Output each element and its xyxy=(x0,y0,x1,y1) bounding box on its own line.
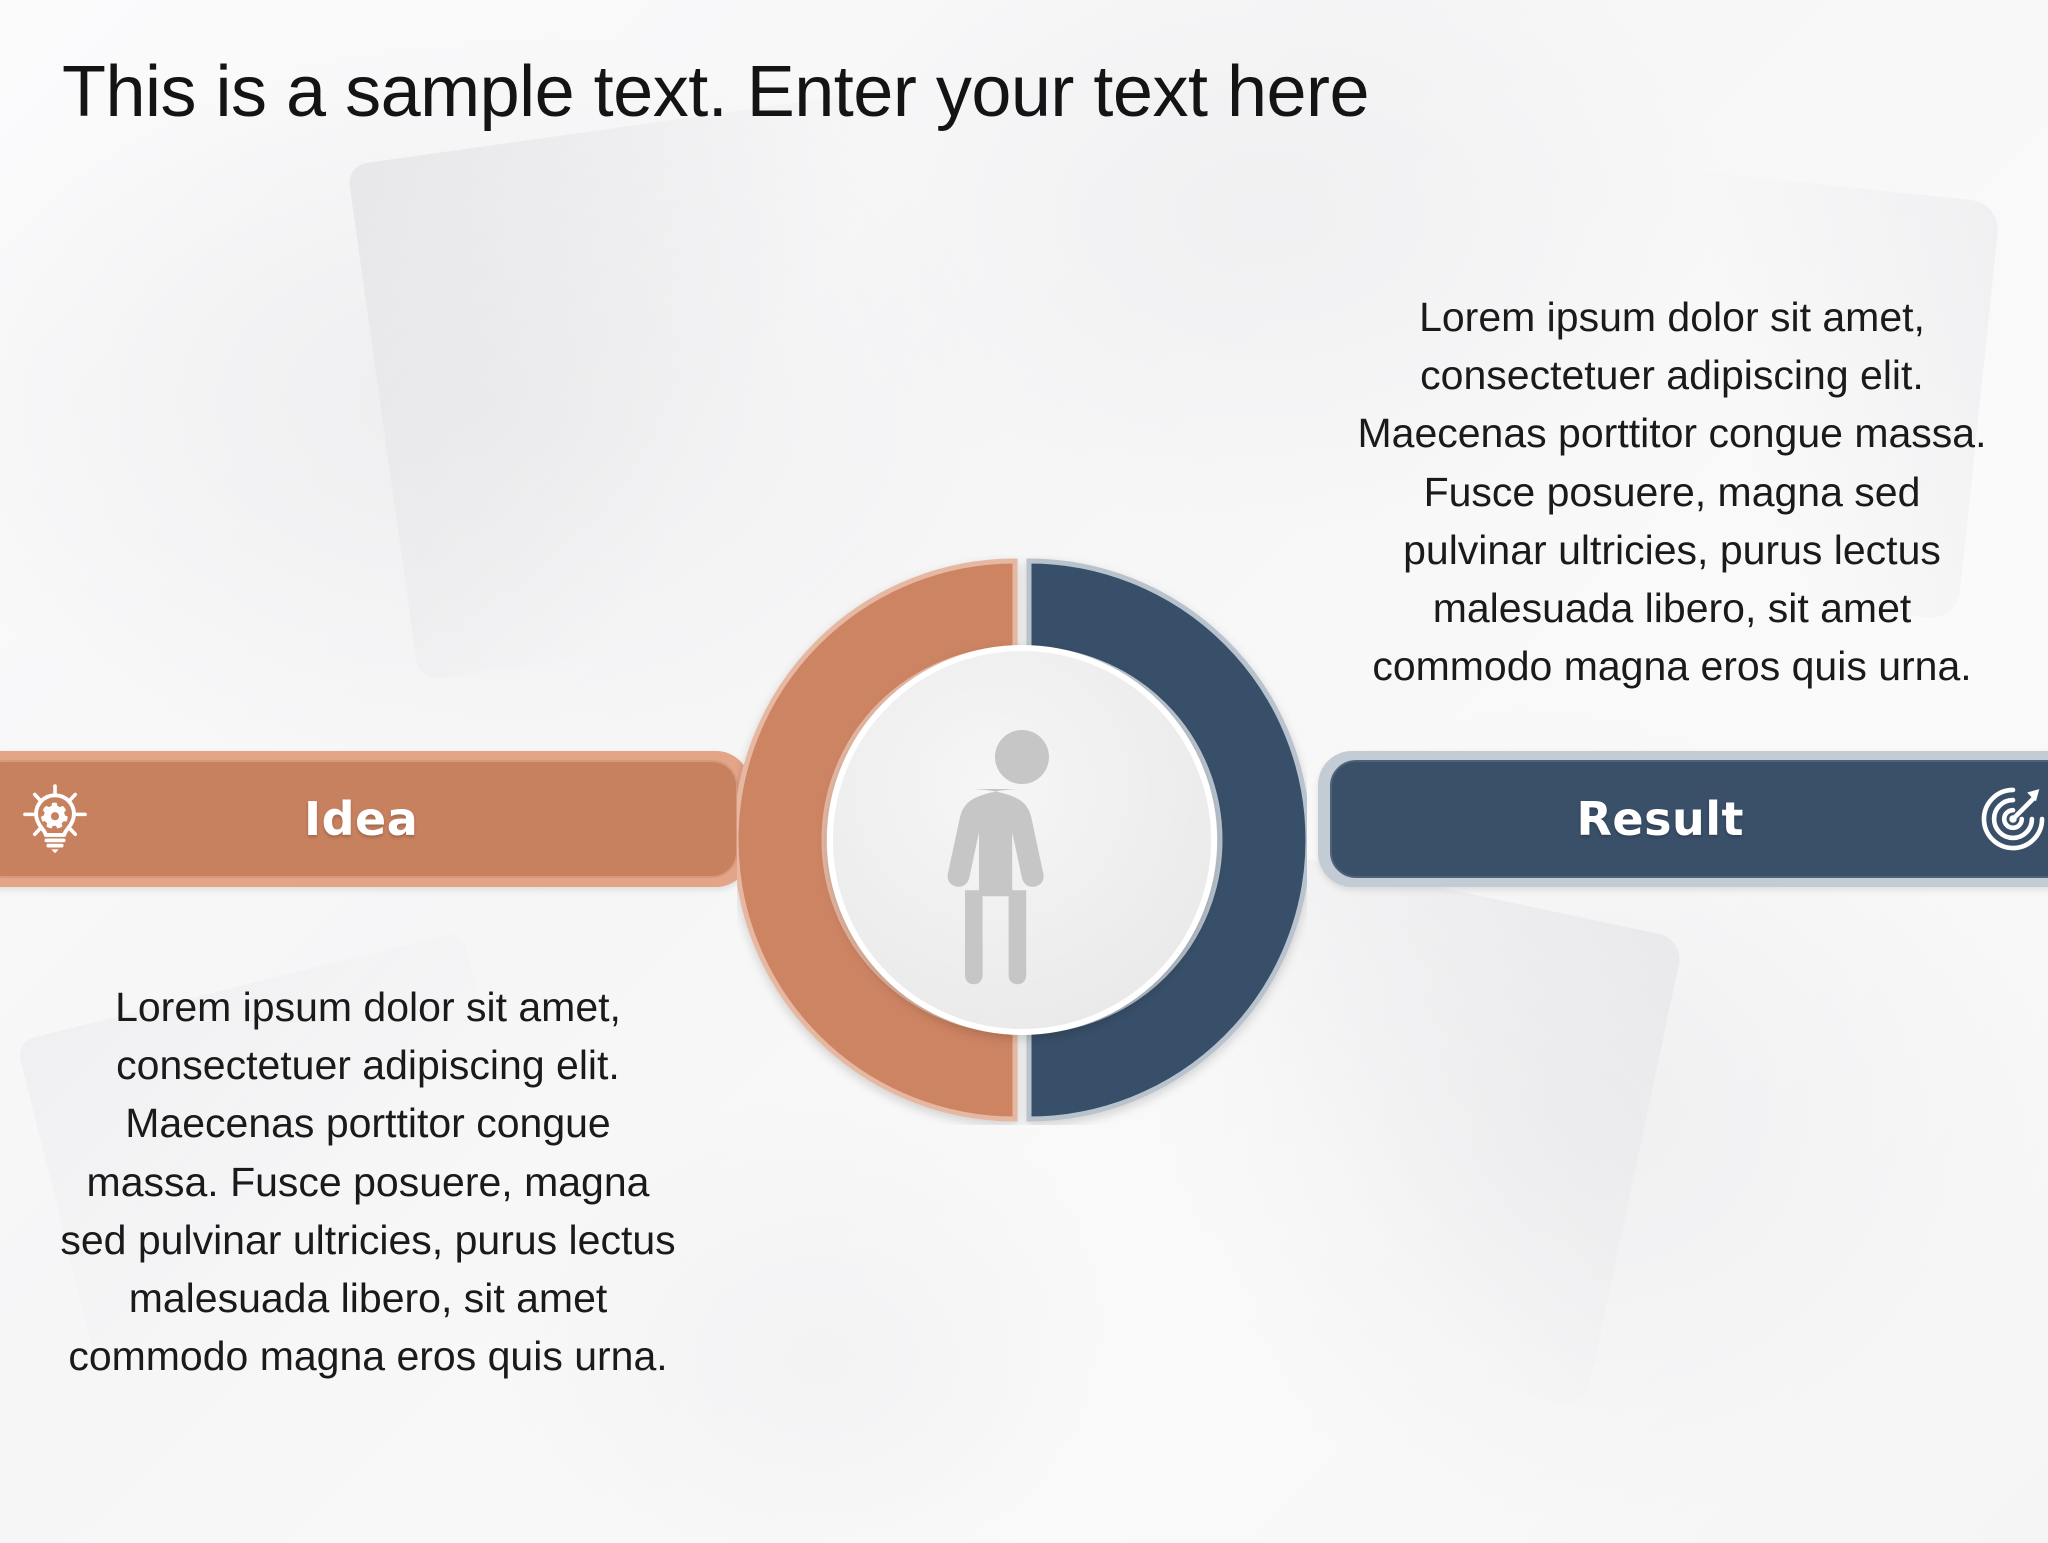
target-arrow-icon xyxy=(1974,780,2048,858)
idea-bar-content: Idea xyxy=(0,760,732,878)
result-bar-content: Result xyxy=(1336,760,2048,878)
result-bar[interactable]: Result xyxy=(1318,751,2048,887)
idea-label: Idea xyxy=(304,792,418,846)
slide-canvas: This is a sample text. Enter your text h… xyxy=(0,0,2048,1543)
lightbulb-gear-icon xyxy=(16,780,94,858)
result-label: Result xyxy=(1576,792,1744,846)
center-hub xyxy=(737,555,1307,1125)
idea-description-text: Lorem ipsum dolor sit amet, consectetuer… xyxy=(58,978,678,1386)
result-description-text: Lorem ipsum dolor sit amet, consectetuer… xyxy=(1348,288,1996,696)
idea-bar[interactable]: Idea xyxy=(0,751,750,887)
slide-title: This is a sample text. Enter your text h… xyxy=(62,52,1962,133)
